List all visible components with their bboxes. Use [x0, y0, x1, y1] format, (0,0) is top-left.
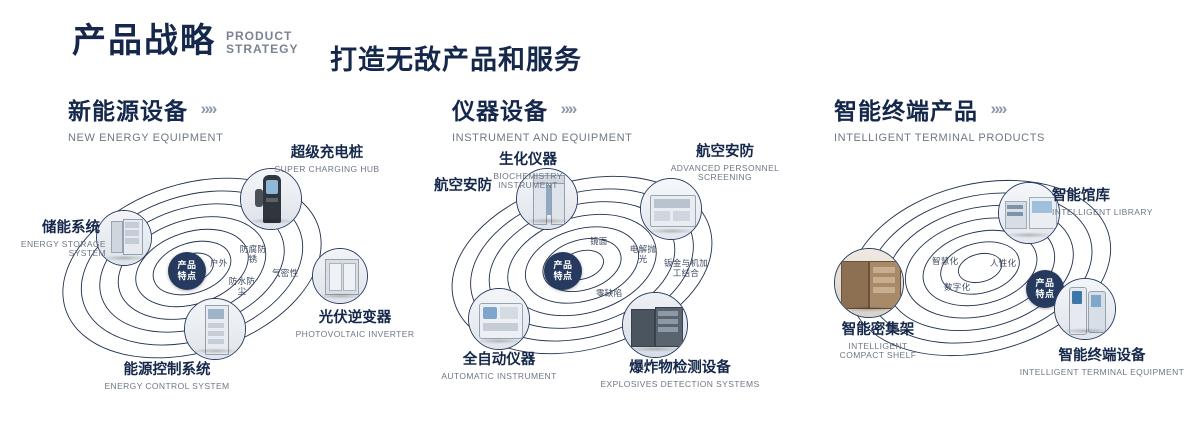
orbit-label-zero-defect: 零缺陷 — [596, 288, 622, 298]
node-explosives-detection-systems[interactable] — [622, 292, 688, 358]
orbit-label-humanized: 人性化 — [990, 258, 1016, 268]
control-cabinet-photo — [185, 299, 245, 359]
caption-cn: 光伏逆变器 — [290, 310, 420, 327]
orbit-label-anticorrosion: 防腐防锈 — [236, 244, 270, 264]
automatic-instrument-photo — [469, 289, 529, 349]
screening-machine-photo — [641, 179, 701, 239]
caption-cn: 生化仪器 — [460, 152, 596, 169]
node-super-charging-hub[interactable] — [240, 168, 302, 230]
caption-intelligent-compact-shelf: 智能密集架 INTELLIGENT COMPACT SHELF — [818, 322, 938, 361]
node-photovoltaic-inverter[interactable] — [312, 248, 368, 304]
center-badge-product-features: 产品 特点 — [168, 252, 206, 290]
chevron-right-icon: »» — [560, 99, 575, 119]
orbit-label-electropolishing: 电解抛光 — [626, 244, 660, 264]
caption-super-charging-hub: 超级充电桩 SUPER CHARGING HUB — [262, 145, 392, 174]
title-cn: 产品战略 — [72, 24, 216, 58]
section-heading-new-energy: 新能源设备 »» NEW ENERGY EQUIPMENT — [68, 92, 223, 144]
node-advanced-personnel-screening[interactable] — [640, 178, 702, 240]
caption-en: AUTOMATIC INSTRUMENT — [428, 372, 570, 382]
caption-energy-storage-system: 储能系统 ENERGY STORAGE SYSTEM — [14, 220, 100, 259]
center-badge-line1: 产品 — [553, 260, 572, 271]
caption-cn: 爆炸物检测设备 — [592, 360, 768, 377]
section-heading-intelligent-terminal: 智能终端产品 »» INTELLIGENT TERMINAL PRODUCTS — [834, 92, 1045, 144]
caption-cn: 航空安防 — [660, 144, 790, 161]
caption-cn: 智能密集架 — [818, 322, 938, 339]
caption-cn: 能源控制系统 — [82, 362, 252, 379]
charging-pile-photo — [241, 169, 301, 229]
orbit-label-outdoor: 户外 — [210, 258, 228, 268]
center-badge-line1: 产品 — [1035, 278, 1054, 289]
caption-cn: 超级充电桩 — [262, 145, 392, 162]
caption-en: INTELLIGENT TERMINAL EQUIPMENT — [1014, 368, 1190, 378]
center-badge-line2: 特点 — [177, 271, 196, 282]
caption-en: INTELLIGENT LIBRARY — [1052, 208, 1182, 218]
caption-advanced-personnel-screening: 航空安防 ADVANCED PERSONNEL SCREENING — [660, 144, 790, 183]
caption-intelligent-terminal-equipment: 智能终端设备 INTELLIGENT TERMINAL EQUIPMENT — [1014, 348, 1190, 377]
cluster-instrument: 产品 特点 镜面 电解抛光 钣金与机加工结合 零缺陷 — [420, 140, 800, 410]
chevron-right-icon: »» — [200, 99, 215, 119]
cluster-new-energy: 产品 特点 户外 防腐防锈 防水防尘 气密性 — [40, 140, 420, 410]
caption-en: PHOTOVOLTAIC INVERTER — [290, 330, 420, 340]
caption-en: ENERGY CONTROL SYSTEM — [82, 382, 252, 392]
chevron-right-icon: »» — [990, 99, 1005, 119]
explosives-detector-photo — [623, 293, 687, 357]
caption-automatic-instrument: 全自动仪器 AUTOMATIC INSTRUMENT — [428, 352, 570, 381]
node-intelligent-compact-shelf[interactable] — [834, 248, 904, 318]
page-subtitle: 打造无敌产品和服务 — [330, 38, 582, 77]
section-title-cn: 智能终端产品 — [834, 92, 978, 126]
title-en-line2: STRATEGY — [226, 43, 298, 56]
node-energy-control-system[interactable] — [184, 298, 246, 360]
title-en: PRODUCT STRATEGY — [226, 30, 298, 56]
caption-en: BIOCHEMISTRY INSTRUMENT — [482, 172, 574, 192]
caption-intelligent-library: 智能馆库 INTELLIGENT LIBRARY — [1052, 188, 1182, 217]
orbit-label-digital: 数字化 — [944, 282, 970, 292]
caption-energy-control-system: 能源控制系统 ENERGY CONTROL SYSTEM — [82, 362, 252, 391]
caption-en: INTELLIGENT COMPACT SHELF — [828, 342, 928, 362]
caption-explosives-detection-systems: 爆炸物检测设备 EXPLOSIVES DETECTION SYSTEMS — [592, 360, 768, 389]
node-intelligent-terminal-equipment[interactable] — [1054, 278, 1116, 340]
caption-photovoltaic-inverter: 光伏逆变器 PHOTOVOLTAIC INVERTER — [290, 310, 420, 339]
caption-en: SUPER CHARGING HUB — [262, 165, 392, 175]
caption-biochemistry-instrument: 生化仪器 BIOCHEMISTRY INSTRUMENT — [460, 152, 596, 191]
center-badge-line1: 产品 — [177, 260, 196, 271]
center-badge-line2: 特点 — [553, 271, 572, 282]
orbit-label-mirror: 镜面 — [590, 236, 608, 246]
caption-cn: 智能终端设备 — [1014, 348, 1190, 365]
terminal-kiosk-photo — [1055, 279, 1115, 339]
caption-en: ENERGY STORAGE SYSTEM — [14, 240, 106, 260]
caption-en: ADVANCED PERSONNEL SCREENING — [670, 164, 780, 184]
caption-cn: 全自动仪器 — [428, 352, 570, 369]
center-badge-product-features: 产品 特点 — [544, 252, 582, 290]
section-title-cn: 新能源设备 — [68, 92, 188, 126]
orbit-label-waterproof: 防水防尘 — [225, 276, 259, 296]
inverter-photo — [313, 249, 367, 303]
orbit-label-airtight: 气密性 — [272, 268, 298, 278]
page-title: 产品战略 PRODUCT STRATEGY — [72, 24, 298, 58]
orbit-label-intelligent: 智慧化 — [932, 256, 958, 266]
cluster-intelligent-terminal: 产品 特点 智慧化 人性化 数字化 — [800, 140, 1190, 410]
orbit-label-sheetmetal-machining: 钣金与机加工结合 — [664, 258, 708, 278]
compact-shelf-photo — [835, 249, 903, 317]
caption-en: EXPLOSIVES DETECTION SYSTEMS — [592, 380, 768, 390]
section-heading-instrument: 仪器设备 »» INSTRUMENT AND EQUIPMENT — [452, 92, 632, 144]
library-shelf-photo — [999, 183, 1059, 243]
node-intelligent-library[interactable] — [998, 182, 1060, 244]
section-title-cn: 仪器设备 — [452, 92, 548, 126]
node-automatic-instrument[interactable] — [468, 288, 530, 350]
caption-cn: 储能系统 — [14, 220, 100, 237]
center-badge-line2: 特点 — [1035, 289, 1054, 300]
caption-cn: 智能馆库 — [1052, 188, 1182, 205]
